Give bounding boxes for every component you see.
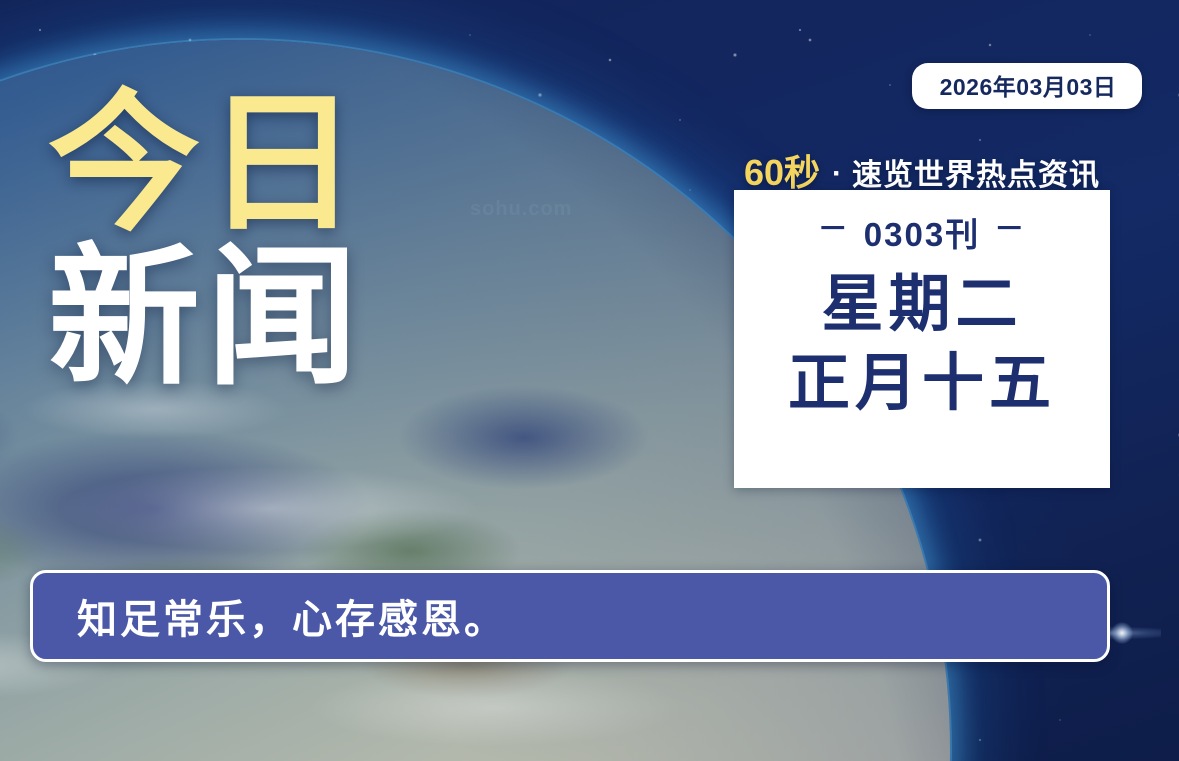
quote-text: 知足常乐，心存感恩。 xyxy=(77,587,507,645)
page-title-line-1: 今日 xyxy=(48,92,364,238)
date-badge: 2026年03月03日 xyxy=(912,63,1142,109)
tagline: 60秒 · 速览世界热点资讯 xyxy=(744,144,1100,196)
tagline-separator: · xyxy=(822,157,850,191)
watermark-text: sohu.com xyxy=(470,198,572,221)
issue-row: － 0303刊 － xyxy=(818,208,1026,256)
lunar-date-label: 正月十五 xyxy=(788,351,1056,416)
page-title-line-2: 新闻 xyxy=(48,246,364,392)
issue-number-label: 0303刊 xyxy=(864,208,980,256)
issue-info-card: － 0303刊 － 星期二 正月十五 xyxy=(734,190,1110,488)
issue-dash-left: － xyxy=(818,215,850,245)
page-title: 今日 新闻 xyxy=(48,92,364,392)
news-poster: sohu.com 今日 新闻 2026年03月03日 60秒 · 速览世界热点资… xyxy=(0,0,1179,761)
lens-flare-core xyxy=(1111,622,1133,644)
issue-dash-right: － xyxy=(994,215,1026,245)
tagline-subtitle: 速览世界热点资讯 xyxy=(852,150,1100,194)
quote-bar: 知足常乐，心存感恩。 xyxy=(30,570,1110,662)
weekday-label: 星期二 xyxy=(821,272,1022,337)
tagline-seconds: 60秒 xyxy=(744,144,820,196)
